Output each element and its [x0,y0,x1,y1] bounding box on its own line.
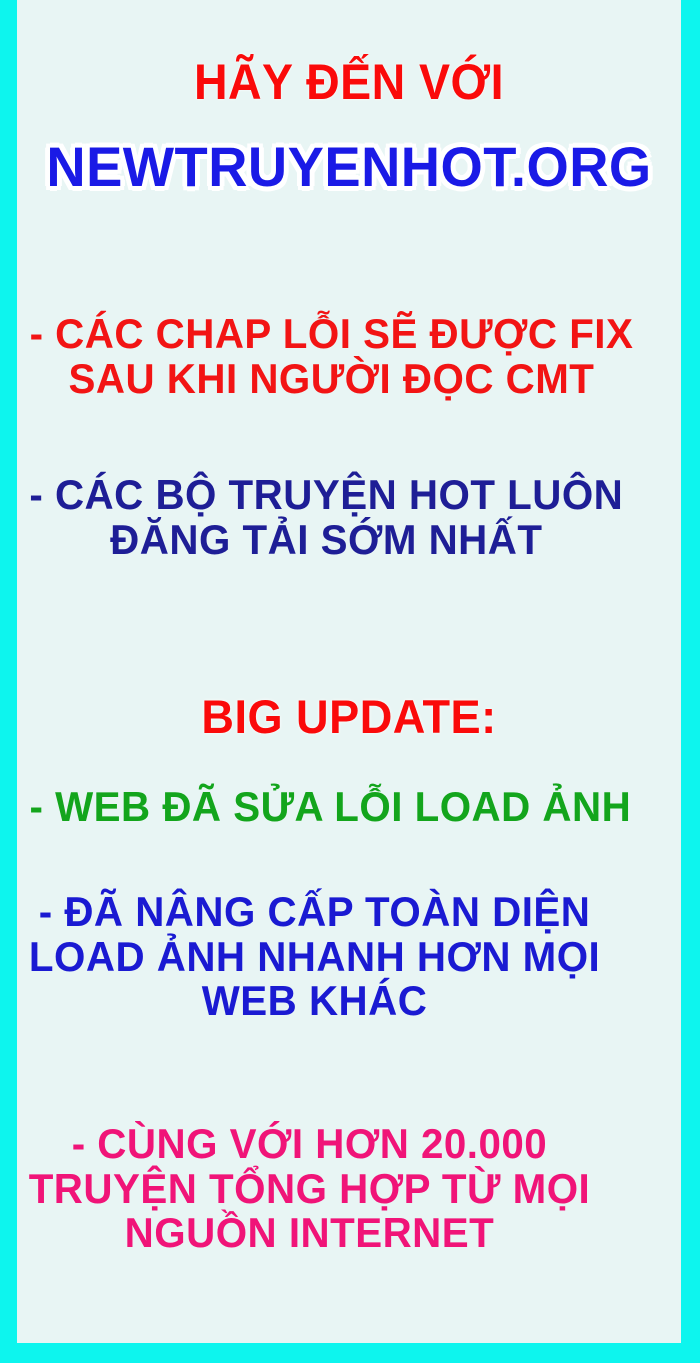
update-series-count: - CÙNG VỚI HƠN 20.000 TRUYỆN TỔNG HỢP TỪ… [29,1122,591,1256]
big-update-title: BIG UPDATE: [30,692,667,742]
update-series-count-line2: TRUYỆN TỔNG HỢP TỪ MỌI [29,1167,591,1212]
bottom-white-strip [0,1363,700,1368]
update-full-upgrade: - ĐÃ NÂNG CẤP TOÀN DIỆN LOAD ẢNH NHANH H… [29,890,600,1024]
notice-chapter-fix-line2: SAU KHI NGƯỜI ĐỌC CMT [30,357,634,402]
notice-hot-series-line1: - CÁC BỘ TRUYỆN HOT LUÔN [29,473,623,518]
site-name-headline: NEWTRUYENHOT.ORG [27,137,671,196]
banner-inner-panel: HÃY ĐẾN VỚI NEWTRUYENHOT.ORG - CÁC CHAP … [17,0,681,1343]
headline-primary: HÃY ĐẾN VỚI [40,56,658,109]
notice-chapter-fix-line1: - CÁC CHAP LỖI SẼ ĐƯỢC FIX [30,312,634,357]
notice-hot-series: - CÁC BỘ TRUYỆN HOT LUÔN ĐĂNG TẢI SỚM NH… [29,473,623,562]
notice-hot-series-line2: ĐĂNG TẢI SỚM NHẤT [29,518,623,563]
update-image-load-fix: - WEB ĐÃ SỬA LỖI LOAD ẢNH [30,785,632,830]
update-series-count-line1: - CÙNG VỚI HƠN 20.000 [29,1122,591,1167]
promo-banner: HÃY ĐẾN VỚI NEWTRUYENHOT.ORG - CÁC CHAP … [0,0,700,1368]
update-series-count-line3: NGUỒN INTERNET [29,1211,591,1256]
update-full-upgrade-line3: WEB KHÁC [29,979,600,1024]
update-image-load-fix-line1: - WEB ĐÃ SỬA LỖI LOAD ẢNH [30,785,632,830]
update-full-upgrade-line2: LOAD ẢNH NHANH HƠN MỌI [29,935,600,980]
update-full-upgrade-line1: - ĐÃ NÂNG CẤP TOÀN DIỆN [29,890,600,935]
notice-chapter-fix: - CÁC CHAP LỖI SẼ ĐƯỢC FIX SAU KHI NGƯỜI… [30,312,634,401]
